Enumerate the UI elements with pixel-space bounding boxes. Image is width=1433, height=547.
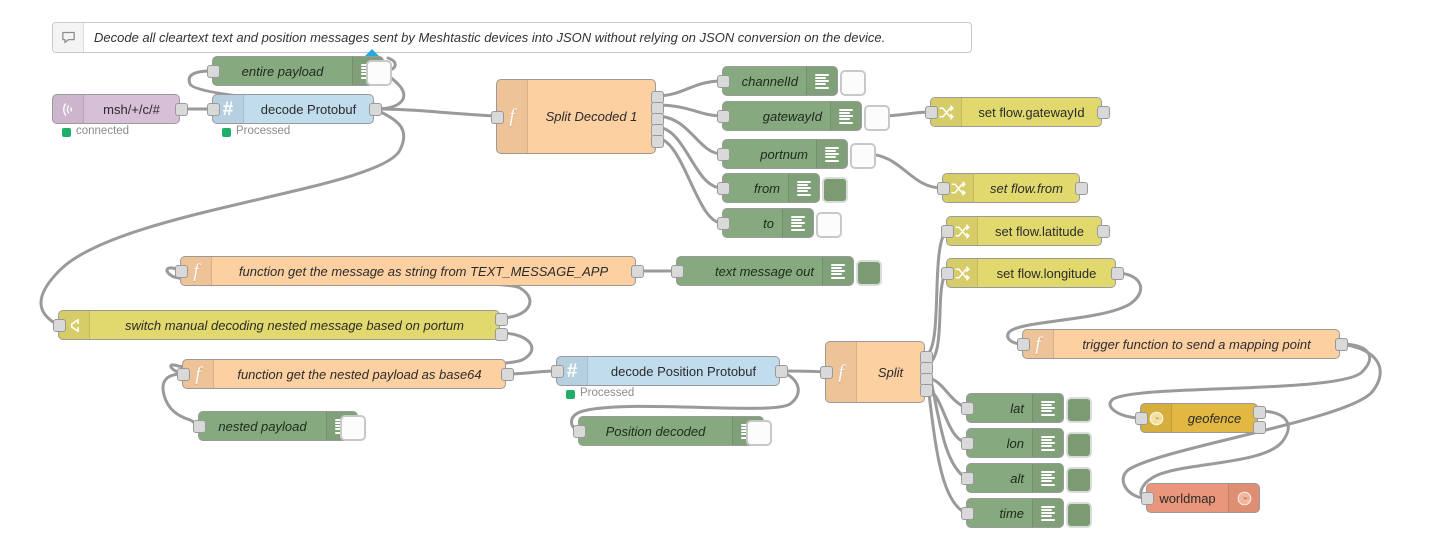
input-port[interactable] [1135,412,1148,425]
node-label: function get the message as string from … [212,264,635,279]
debug-toggle-button[interactable] [822,177,848,203]
input-port[interactable] [961,402,974,415]
node-lat[interactable]: lat [966,393,1064,423]
debug-toggle-button[interactable] [864,105,890,131]
status-label: Processed [236,125,290,137]
node-mqtt-in[interactable]: msh/+/c/# [52,94,180,124]
output-port-2[interactable] [495,328,508,341]
debug-toggle-button[interactable] [840,70,866,96]
node-switch-portnum[interactable]: switch manual decoding nested message ba… [58,310,500,340]
debug-toggle-button[interactable] [856,260,882,286]
node-label: alt [967,471,1032,486]
status-dot [566,390,575,399]
status-label: connected [76,125,129,137]
input-port[interactable] [175,265,188,278]
node-label: lon [967,436,1032,451]
node-set-flow-latitude[interactable]: set flow.latitude [946,216,1102,246]
node-label: decode Protobuf [244,102,373,117]
node-text-message-out[interactable]: text message out [676,256,854,286]
node-label: lat [967,401,1032,416]
node-portnum[interactable]: portnum [722,139,848,169]
debug-toggle-button[interactable] [816,212,842,238]
node-label: set flow.longitude [978,266,1115,281]
output-port-2[interactable] [1253,421,1266,434]
mqtt-signal-icon [53,95,84,123]
node-label: portnum [723,147,816,162]
node-gatewayid[interactable]: gatewayId [722,101,862,131]
input-port[interactable] [53,319,66,332]
output-port[interactable] [501,368,514,381]
output-port-1[interactable] [1253,406,1266,419]
node-label: Split [857,365,924,380]
input-port[interactable] [551,365,564,378]
node-label: geofence [1172,411,1257,426]
node-fn-nested-base64[interactable]: f function get the nested payload as bas… [182,359,506,389]
node-entire-payload[interactable]: entire payload [212,56,384,86]
comment-node[interactable]: Decode all cleartext text and position m… [52,22,972,53]
node-label: trigger function to send a mapping point [1054,337,1339,352]
output-port[interactable] [369,103,382,116]
node-set-flow-from[interactable]: set flow.from [942,173,1080,203]
comment-text: Decode all cleartext text and position m… [84,30,895,45]
node-split-decoded-1[interactable]: f Split Decoded 1 [496,79,656,154]
input-port[interactable] [717,75,730,88]
debug-toggle-button[interactable] [1066,467,1092,493]
output-port[interactable] [1097,106,1110,119]
node-split[interactable]: f Split [825,341,925,403]
debug-toggle-button[interactable] [340,415,366,441]
input-port[interactable] [937,182,950,195]
node-worldmap[interactable]: worldmap [1146,483,1260,513]
debug-toggle-button[interactable] [1066,432,1092,458]
node-label: channelId [723,74,806,89]
node-fn-text-message[interactable]: f function get the message as string fro… [180,256,636,286]
input-port[interactable] [941,225,954,238]
debug-bars-icon [830,102,861,130]
output-port[interactable] [175,103,188,116]
status-label: Processed [580,387,634,399]
node-nested-payload[interactable]: nested payload [198,411,358,441]
input-port[interactable] [717,182,730,195]
input-port[interactable] [1141,492,1154,505]
comment-bubble-icon [53,23,84,52]
globe-icon [1228,484,1259,512]
debug-bars-icon [1032,429,1063,457]
node-decode-protobuf[interactable]: # decode Protobuf [212,94,374,124]
status-dot [222,128,231,137]
node-decode-position-protobuf[interactable]: # decode Position Protobuf [556,356,780,386]
node-label: set flow.gatewayId [962,105,1101,120]
debug-bars-icon [1032,394,1063,422]
node-label: gatewayId [723,109,830,124]
input-port[interactable] [961,472,974,485]
node-label: function get the nested payload as base6… [214,367,505,382]
node-alt[interactable]: alt [966,463,1064,493]
node-from[interactable]: from [722,173,820,203]
output-port-4[interactable] [920,384,933,397]
input-port[interactable] [193,420,206,433]
debug-toggle-button[interactable] [1066,397,1092,423]
node-label: from [723,181,788,196]
node-label: set flow.from [974,181,1079,196]
debug-bars-icon [782,209,813,237]
debug-bars-icon [816,140,847,168]
input-port[interactable] [177,368,190,381]
node-label: Position decoded [579,424,732,439]
flow-canvas[interactable]: Decode all cleartext text and position m… [0,0,1433,547]
node-label: time [967,506,1032,521]
node-label: nested payload [199,419,326,434]
debug-toggle-button[interactable] [746,420,772,446]
node-label: entire payload [213,64,352,79]
debug-bars-icon [1032,464,1063,492]
node-changed-flag [365,49,379,56]
output-port[interactable] [631,265,644,278]
node-lon[interactable]: lon [966,428,1064,458]
input-port[interactable] [717,217,730,230]
node-label: switch manual decoding nested message ba… [90,318,499,333]
output-port-1[interactable] [495,313,508,326]
input-port[interactable] [671,265,684,278]
node-trigger-mapping-point[interactable]: f trigger function to send a mapping poi… [1022,329,1340,359]
input-port[interactable] [961,507,974,520]
node-channelid[interactable]: channelId [722,66,838,96]
input-port[interactable] [961,437,974,450]
debug-toggle-button[interactable] [1066,502,1092,528]
debug-bars-icon [806,67,837,95]
debug-bars-icon [822,257,853,285]
output-port[interactable] [1075,182,1088,195]
node-time[interactable]: time [966,498,1064,528]
node-set-flow-gatewayid[interactable]: set flow.gatewayId [930,97,1102,127]
node-label: decode Position Protobuf [588,364,779,379]
node-label: worldmap [1147,491,1228,506]
node-set-flow-longitude[interactable]: set flow.longitude [946,258,1116,288]
input-port[interactable] [941,267,954,280]
node-position-decoded[interactable]: Position decoded [578,416,764,446]
input-port[interactable] [717,110,730,123]
input-port[interactable] [820,366,833,379]
node-label: set flow.latitude [978,224,1101,239]
output-port[interactable] [1097,225,1110,238]
input-port[interactable] [925,106,938,119]
input-port[interactable] [717,148,730,161]
input-port[interactable] [1017,338,1030,351]
node-label: msh/+/c/# [84,102,179,117]
input-port[interactable] [573,425,586,438]
debug-toggle-button[interactable] [850,143,876,169]
input-port[interactable] [491,111,504,124]
output-port[interactable] [775,365,788,378]
output-port[interactable] [1111,267,1124,280]
node-to[interactable]: to [722,208,814,238]
status-dot [62,128,71,137]
output-port-5[interactable] [651,135,664,148]
node-label: Split Decoded 1 [528,109,655,124]
node-geofence[interactable]: geofence [1140,403,1258,433]
debug-bars-icon [1032,499,1063,527]
input-port[interactable] [207,103,220,116]
input-port[interactable] [207,65,220,78]
output-port[interactable] [1335,338,1348,351]
node-label: text message out [677,264,822,279]
debug-bars-icon [788,174,819,202]
node-label: to [723,216,782,231]
debug-toggle-button[interactable] [366,60,392,86]
